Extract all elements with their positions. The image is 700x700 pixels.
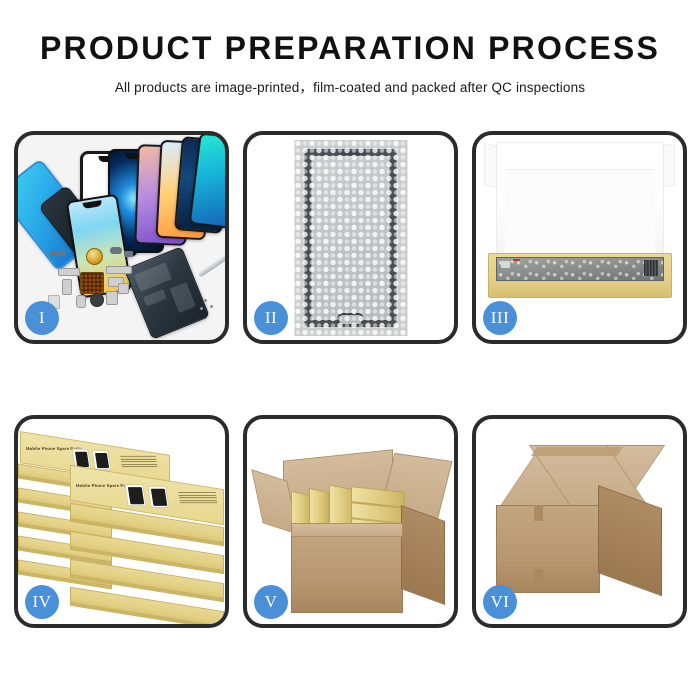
phone-backplate-internals <box>124 246 210 340</box>
speaker-module <box>90 293 104 307</box>
screw-icon <box>204 299 207 302</box>
carton-front-face <box>496 505 600 593</box>
panel-step-4: Mobile Phone Spare Parts Mobile Phone Sp… <box>14 415 229 628</box>
logicboard-shape <box>170 282 196 313</box>
screw-icon <box>210 305 213 308</box>
small-part <box>124 251 133 257</box>
copper-coil-icon <box>86 248 103 265</box>
panel-step-1: I <box>14 131 229 344</box>
step-badge: I <box>25 301 59 335</box>
box-label-thumbnail <box>147 486 169 508</box>
bubble-wrap-sheet <box>294 140 407 336</box>
tape-strip-front <box>534 505 543 521</box>
screen-in-box <box>496 257 664 281</box>
carton-right-face <box>598 485 662 596</box>
page-title: PRODUCT PREPARATION PROCESS <box>0 30 700 67</box>
battery-shape <box>134 262 172 291</box>
step-badge: II <box>254 301 288 335</box>
white-foam-lid <box>496 142 664 262</box>
step-badge: V <box>254 585 288 619</box>
panel-step-3: III <box>472 131 687 344</box>
sim-tray <box>106 291 118 305</box>
panel-step-5: V <box>243 415 458 628</box>
kraft-box-tray <box>488 253 672 298</box>
header: PRODUCT PREPARATION PROCESS All products… <box>0 0 700 96</box>
camera-module <box>76 295 86 308</box>
flex-cable <box>62 279 72 295</box>
page-subtitle: All products are image-printed，film-coat… <box>0 76 700 96</box>
bubble-texture <box>294 140 407 336</box>
chip-marker <box>501 261 510 268</box>
board-shape <box>143 289 167 307</box>
flex-cable <box>58 268 80 276</box>
carton-front-face <box>291 531 403 613</box>
process-steps-grid: I II <box>14 131 686 628</box>
box-label-thumbnail <box>124 484 146 506</box>
product-preparation-infographic: PRODUCT PREPARATION PROCESS All products… <box>0 0 700 700</box>
red-marker <box>513 259 520 261</box>
carton-side-face <box>401 505 445 605</box>
step-badge: III <box>483 301 517 335</box>
step-badge: VI <box>483 585 517 619</box>
step-badge: IV <box>25 585 59 619</box>
tape-strip-front-lower <box>534 569 543 585</box>
tape-strip-top <box>531 447 623 456</box>
box-label-spec-lines <box>178 492 218 505</box>
notch-icon <box>82 200 102 209</box>
panel-step-2: II <box>243 131 458 344</box>
flex-cable <box>106 266 132 274</box>
box-label-thumbnail <box>92 450 112 470</box>
box-label-spec-lines <box>120 456 158 469</box>
screw-icon <box>200 307 203 310</box>
small-part <box>110 247 122 254</box>
panel-step-6: VI <box>472 415 687 628</box>
wrap-sheen <box>497 258 663 280</box>
small-part <box>118 283 129 294</box>
carton-top-rim <box>291 523 403 537</box>
connector-chip-icon <box>80 272 104 294</box>
tweezers-icon <box>198 253 225 277</box>
small-part <box>50 251 66 256</box>
connector-marker <box>644 260 658 276</box>
